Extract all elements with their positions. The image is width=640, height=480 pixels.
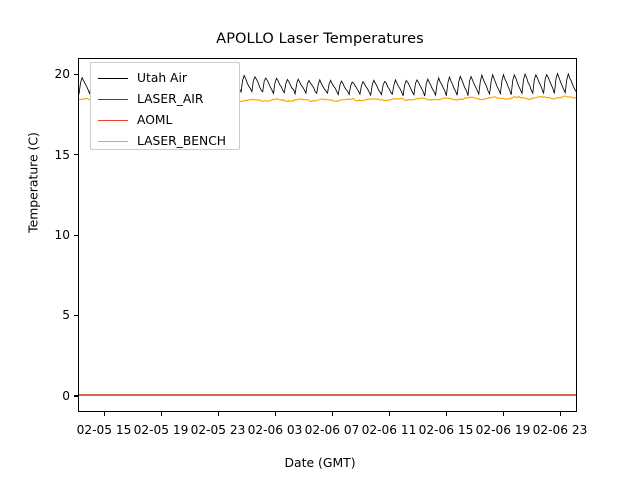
x-tick-mark (503, 412, 504, 416)
x-tick-mark (389, 412, 390, 416)
y-tick-label-wrap: 5 (30, 309, 70, 321)
y-tick-label: 20 (32, 68, 70, 80)
y-tick-label-wrap: 10 (30, 229, 70, 241)
x-tick-label: 02-06 23 (518, 424, 602, 437)
y-tick-label: 10 (32, 229, 70, 241)
x-tick-mark (104, 412, 105, 416)
legend-item-laser-bench[interactable]: LASER_BENCH (91, 131, 239, 150)
legend-line-swatch (98, 99, 128, 100)
x-tick-mark (161, 412, 162, 416)
legend-line-swatch (98, 141, 128, 142)
legend-item-aoml[interactable]: AOML (91, 110, 239, 131)
chart-figure: APOLLO Laser Temperatures Temperature (C… (0, 0, 640, 480)
y-tick-label-wrap: 15 (30, 149, 70, 161)
legend-line-swatch (98, 120, 128, 121)
chart-legend[interactable]: Utah AirLASER_AIRAOMLLASER_BENCH (90, 62, 240, 150)
x-tick-mark (446, 412, 447, 416)
y-tick-label-wrap: 20 (30, 68, 70, 80)
legend-line-swatch (98, 78, 128, 79)
y-tick-label: 15 (32, 149, 70, 161)
x-tick-mark (332, 412, 333, 416)
x-axis-label: Date (GMT) (0, 455, 640, 470)
legend-item-utah-air[interactable]: Utah Air (91, 68, 239, 89)
legend-label: AOML (137, 114, 172, 127)
legend-label: Utah Air (137, 72, 187, 85)
x-tick-mark (275, 412, 276, 416)
legend-label: LASER_AIR (137, 93, 203, 106)
legend-label: LASER_BENCH (137, 135, 226, 148)
x-tick-mark (218, 412, 219, 416)
legend-item-laser-air[interactable]: LASER_AIR (91, 89, 239, 110)
x-tick-mark (560, 412, 561, 416)
y-tick-label-wrap: 0 (30, 390, 70, 402)
y-tick-label: 5 (32, 309, 70, 321)
y-tick-label: 0 (32, 390, 70, 402)
chart-title: APOLLO Laser Temperatures (0, 31, 640, 47)
y-axis-label: Temperature (C) (26, 53, 41, 313)
